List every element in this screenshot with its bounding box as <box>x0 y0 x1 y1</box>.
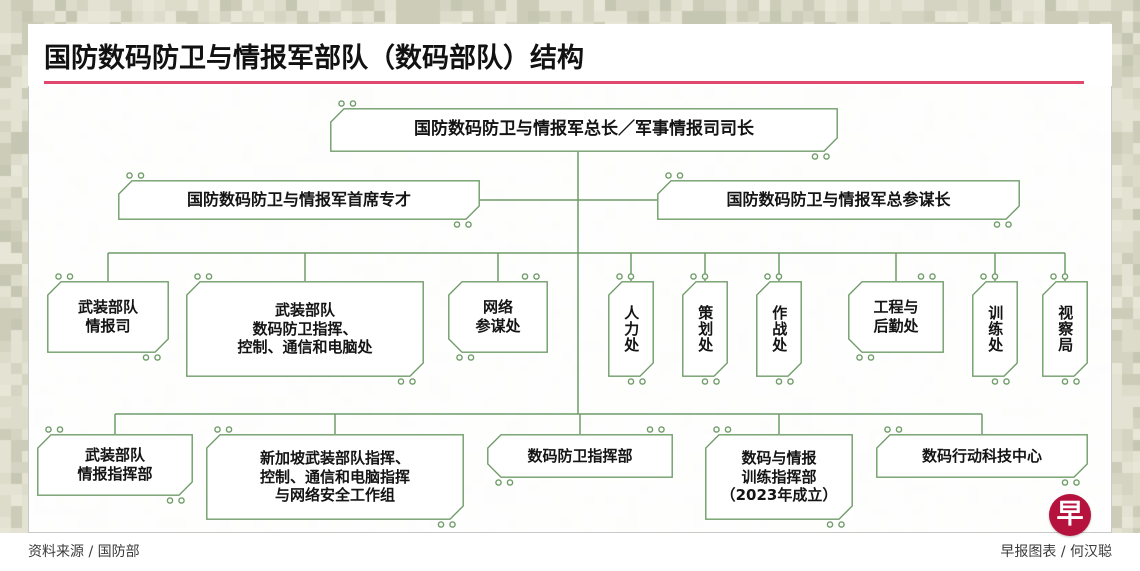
node-label: 人力处 <box>622 300 641 358</box>
org-node-cos: 国防数码防卫与情报军总参谋长 <box>657 180 1020 220</box>
footer: 资料来源 / 国防部 早报图表 / 何汉聪 <box>0 533 1140 571</box>
org-node-operations: 作战处 <box>756 281 802 377</box>
credit-label: 早报图表 / 何汉聪 <box>1000 541 1112 561</box>
infographic-root: 国防数码防卫与情报军部队（数码部队）结构 国防数码防卫与情报军总长／军事情报司司… <box>0 0 1140 571</box>
node-label: 数码行动科技中心 <box>915 447 1049 466</box>
org-node-dost: 数码行动科技中心 <box>876 434 1088 478</box>
header: 国防数码防卫与情报军部队（数码部队）结构 <box>28 24 1112 86</box>
org-node-training: 训练处 <box>972 281 1018 377</box>
node-label: 国防数码防卫与情报军首席专才 <box>180 190 418 210</box>
node-label: 武装部队 情报指挥部 <box>70 446 159 483</box>
node-label: 策划处 <box>696 300 715 358</box>
node-label: 训练处 <box>986 300 1005 358</box>
org-node-afi: 武装部队 情报司 <box>47 281 169 353</box>
panel-right-border <box>1111 24 1112 533</box>
org-node-c4: 武装部队 数码防卫指挥、 控制、通信和电脑处 <box>186 281 424 377</box>
node-label: 新加坡武装部队指挥、 控制、通信和电脑指挥 与网络安全工作组 <box>253 449 417 505</box>
zaobao-logo: 早 <box>1049 494 1091 536</box>
node-label: 作战处 <box>770 300 789 358</box>
org-node-planning: 策划处 <box>682 281 728 377</box>
org-node-manpower: 人力处 <box>608 281 654 377</box>
org-node-eng-log: 工程与 后勤处 <box>848 281 944 353</box>
node-label: 视察局 <box>1056 300 1075 358</box>
page-title: 国防数码防卫与情报军部队（数码部队）结构 <box>44 36 584 75</box>
org-node-afi-cmd: 武装部队 情报指挥部 <box>37 434 193 496</box>
node-label: 数码防卫指挥部 <box>520 447 639 466</box>
org-node-dit: 数码与情报 训练指挥部 （2023年成立） <box>705 434 853 520</box>
org-node-saf-c4: 新加坡武装部队指挥、 控制、通信和电脑指挥 与网络安全工作组 <box>206 434 464 520</box>
title-underline <box>44 81 1084 84</box>
org-node-cyber-staff: 网络 参谋处 <box>448 281 548 353</box>
node-label: 国防数码防卫与情报军总长／军事情报司司长 <box>407 119 761 140</box>
org-node-chief: 国防数码防卫与情报军总长／军事情报司司长 <box>330 108 838 152</box>
node-label: 国防数码防卫与情报军总参谋长 <box>719 190 957 210</box>
node-label: 网络 参谋处 <box>468 298 527 335</box>
org-node-ddc: 数码防卫指挥部 <box>487 434 673 478</box>
node-label: 数码与情报 训练指挥部 （2023年成立） <box>714 449 845 505</box>
org-node-inspectorate: 视察局 <box>1042 281 1088 377</box>
source-label: 资料来源 / 国防部 <box>28 541 140 561</box>
org-node-expert: 国防数码防卫与情报军首席专才 <box>118 180 480 220</box>
node-label: 武装部队 情报司 <box>71 298 145 335</box>
node-label: 武装部队 数码防卫指挥、 控制、通信和电脑处 <box>230 301 379 357</box>
node-label: 工程与 后勤处 <box>866 298 925 335</box>
